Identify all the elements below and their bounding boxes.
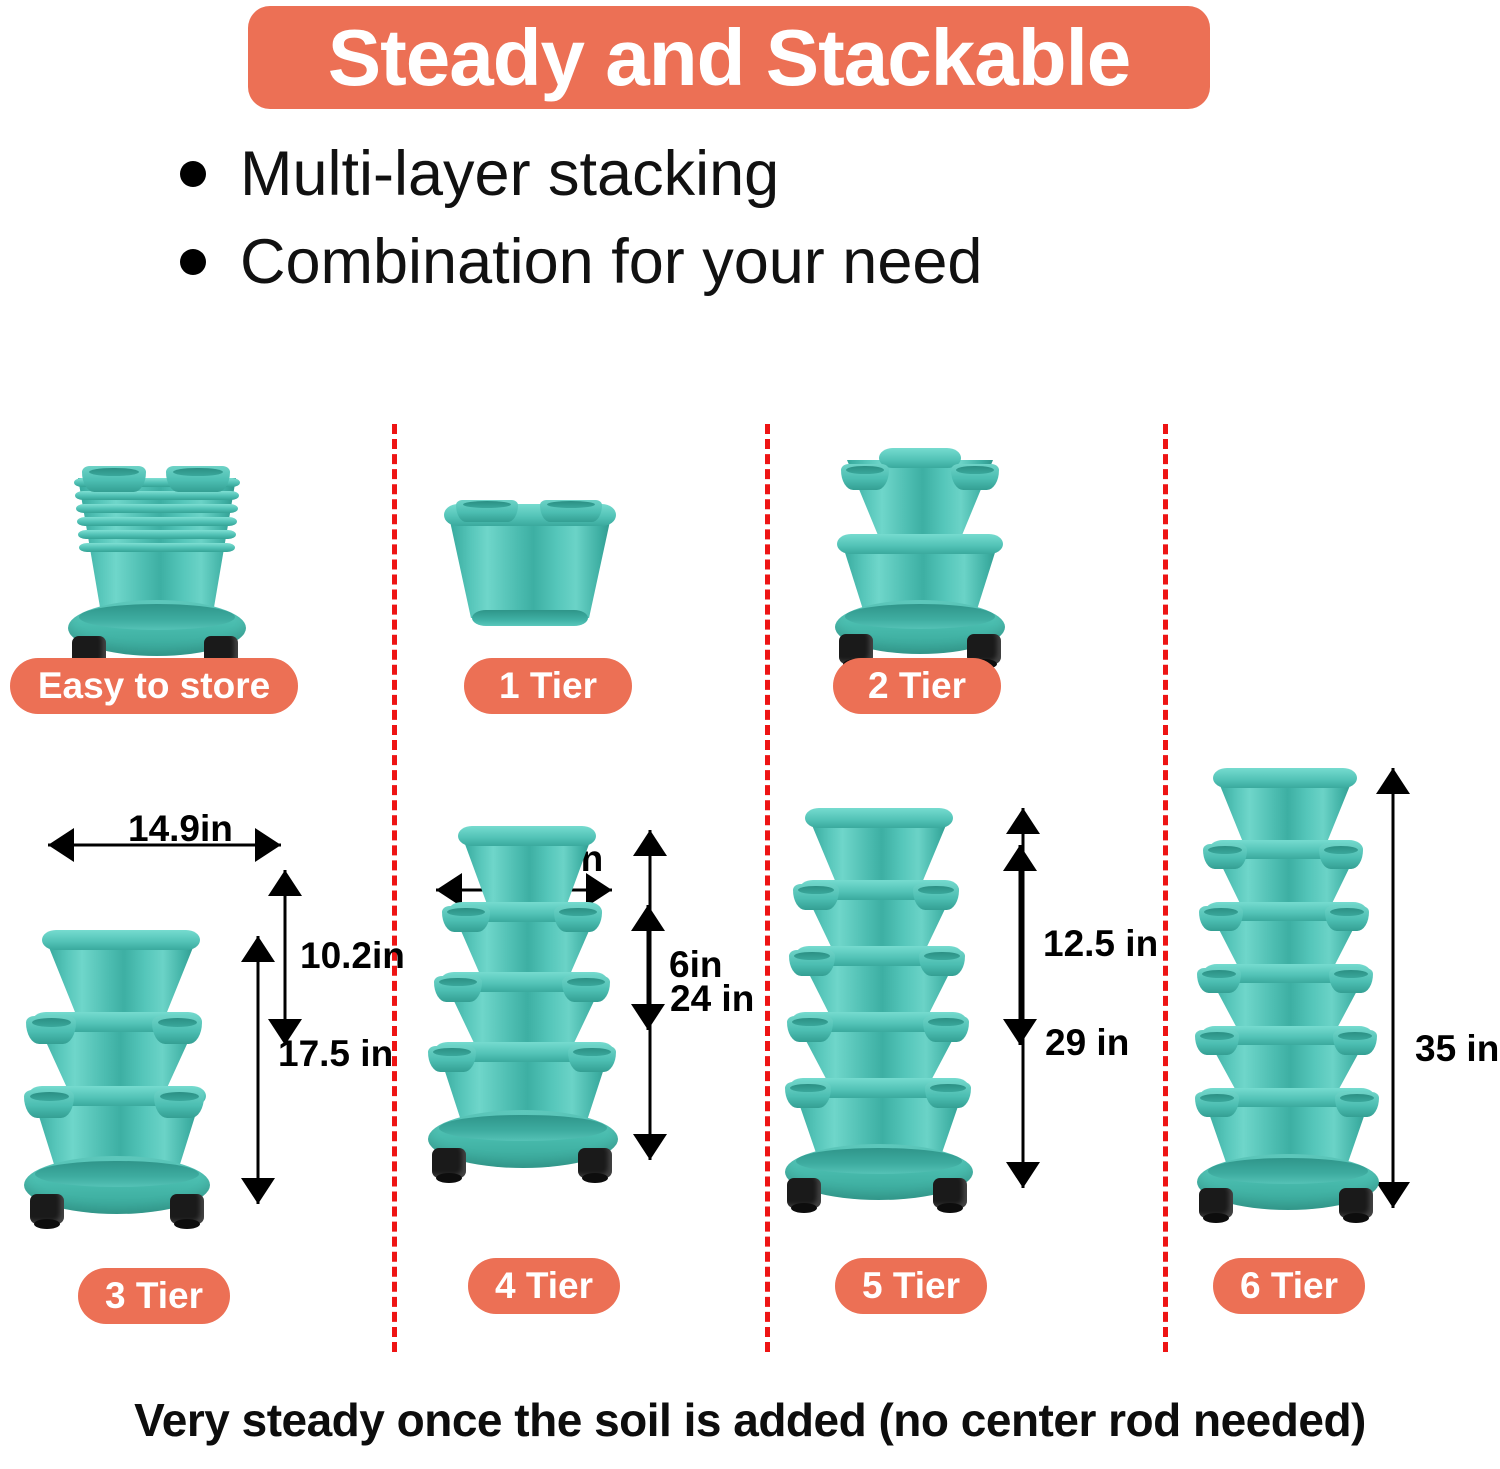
product-image-four-tier — [420, 822, 625, 1162]
pot-pocket — [925, 1082, 971, 1108]
arrow-shaft — [1392, 768, 1395, 1208]
base-rim — [796, 1148, 961, 1174]
pocket-mouth — [160, 1092, 199, 1101]
arrow-shaft — [48, 844, 281, 847]
list-item: Combination for your need — [180, 218, 1180, 306]
panel-label-four-tier: 4 Tier — [468, 1258, 620, 1314]
pocket-mouth — [1334, 970, 1368, 978]
pot-tier — [46, 940, 196, 1022]
pot-pocket — [1319, 844, 1363, 869]
pocket-mouth — [846, 466, 883, 474]
pocket-mouth — [32, 1018, 71, 1027]
panel-label-easy-to-store: Easy to store — [10, 658, 298, 714]
caster-wheel-icon — [30, 1194, 64, 1224]
pocket-mouth — [1340, 1094, 1374, 1102]
width-dimension-label: 14.9in — [128, 810, 233, 847]
bullet-text: Combination for your need — [240, 231, 982, 294]
list-item: Multi-layer stacking — [180, 130, 1180, 218]
panel-label-three-tier: 3 Tier — [78, 1268, 230, 1324]
height-dimension-label: 24 in — [670, 980, 754, 1017]
bullet-dot-icon — [180, 161, 206, 187]
pot-pocket — [568, 1046, 616, 1072]
pocket-mouth — [1338, 1032, 1372, 1040]
arrow-shaft — [257, 936, 260, 1204]
pocket-mouth — [928, 1018, 964, 1026]
footer-caption: Very steady once the soil is added (no c… — [0, 1393, 1500, 1447]
panel-easy-to-store: 14.9in 10.2in Easy t — [0, 400, 392, 730]
nested-rim-line — [79, 543, 235, 552]
pocket-mouth — [918, 886, 954, 894]
pot-pocket — [82, 466, 146, 492]
pocket-mouth — [924, 952, 960, 960]
pocket-mouth — [158, 1018, 197, 1027]
pot-pocket — [442, 906, 490, 932]
pocket-mouth — [1208, 846, 1242, 854]
product-image-two-tier — [827, 442, 1012, 667]
pocket-mouth — [930, 1084, 966, 1092]
pot-top-lip — [1213, 768, 1357, 788]
caster-wheel-icon — [1199, 1188, 1233, 1218]
pocket-mouth — [1200, 1094, 1234, 1102]
pot-pocket — [923, 1016, 969, 1042]
nested-rim-line — [75, 491, 239, 500]
height-dimension-label: 35 in — [1415, 1030, 1499, 1067]
panel-label-two-tier: 2 Tier — [833, 658, 1001, 714]
pocket-mouth — [792, 1018, 828, 1026]
pocket-mouth — [559, 908, 596, 916]
caster-wheel-icon — [1339, 1188, 1373, 1218]
base-rim — [1208, 1158, 1368, 1184]
pot-pocket — [919, 950, 965, 976]
arrow-head-bottom-icon — [1006, 1162, 1040, 1188]
pot-pocket — [428, 1046, 476, 1072]
pot-pocket — [554, 906, 602, 932]
bullet-text: Multi-layer stacking — [240, 143, 779, 206]
pocket-mouth — [1204, 908, 1238, 916]
pot-pocket — [785, 1082, 831, 1108]
pot-pocket — [1195, 1030, 1239, 1055]
pocket-mouth — [1330, 908, 1364, 916]
product-image-five-tier — [779, 806, 984, 1201]
nested-rim-line — [77, 517, 237, 526]
pot-pocket — [562, 976, 610, 1002]
pot-pocket — [789, 950, 835, 976]
pocket-mouth — [1324, 846, 1358, 854]
pot-pocket — [1195, 1092, 1239, 1117]
pot-pocket — [1325, 906, 1369, 931]
arrow-head-bottom-icon — [241, 1178, 275, 1204]
pot-pocket — [1197, 968, 1241, 993]
panel-label-one-tier: 1 Tier — [464, 658, 632, 714]
pot-pocket — [152, 1016, 202, 1044]
pot-pocket — [1335, 1092, 1379, 1117]
pot-tier — [448, 512, 612, 618]
pot-top-lip — [805, 808, 953, 828]
pocket-mouth — [798, 886, 834, 894]
caster-wheel-icon — [432, 1148, 466, 1178]
pot-pocket — [793, 884, 839, 910]
pocket-mouth — [573, 1048, 610, 1056]
base-rim — [35, 1161, 199, 1188]
arrow-shaft — [1022, 808, 1025, 1188]
pocket-mouth — [89, 468, 139, 476]
product-image-three-tier — [18, 928, 218, 1208]
pot-pocket — [951, 464, 999, 490]
pocket-mouth — [547, 501, 595, 508]
nested-rim-line — [78, 530, 236, 539]
height-dimension-label: 17.5 in — [278, 1035, 393, 1072]
feature-bullet-list: Multi-layer stacking Combination for you… — [180, 130, 1180, 306]
pot-pocket — [787, 1016, 833, 1042]
product-image-easy-to-store — [54, 464, 259, 664]
pot-foot — [472, 610, 588, 626]
panel-one-tier: 13.6 in 6in 1 Tier — [392, 400, 765, 730]
arrow-shaft — [649, 830, 652, 1160]
pocket-mouth — [447, 908, 484, 916]
pot-pocket — [1329, 968, 1373, 993]
panel-six-tier: 35 in — [1163, 750, 1500, 1330]
panel-four-tier: 24 in — [392, 790, 765, 1330]
base-rim — [79, 604, 236, 630]
nested-rim-line — [76, 504, 238, 513]
pot-pocket — [26, 1016, 76, 1044]
pocket-mouth — [567, 978, 604, 986]
arrow-head-top-icon — [268, 870, 302, 896]
pot-tier-lip — [837, 534, 1003, 554]
caster-wheel-icon — [578, 1148, 612, 1178]
base-rim — [845, 604, 995, 629]
panel-three-tier: 17.5 in 3 Tier — [0, 900, 392, 1330]
panel-five-tier: 29 in — [765, 780, 1163, 1330]
title-banner: Steady and Stackable — [248, 6, 1210, 109]
pocket-mouth — [30, 1092, 69, 1101]
product-image-six-tier — [1191, 766, 1386, 1221]
pocket-mouth — [439, 978, 476, 986]
pocket-mouth — [173, 468, 223, 476]
pot-pocket — [154, 1090, 204, 1118]
caster-wheel-icon — [933, 1178, 967, 1208]
pot-top-lip — [879, 448, 961, 468]
caster-wheel-icon — [170, 1194, 204, 1224]
pocket-mouth — [1200, 1032, 1234, 1040]
caster-wheel-icon — [787, 1178, 821, 1208]
page-title: Steady and Stackable — [328, 18, 1131, 98]
product-image-one-tier — [440, 500, 620, 630]
pot-pocket — [1203, 844, 1247, 869]
arrow-head-right-icon — [255, 828, 281, 862]
pot-pocket — [1199, 906, 1243, 931]
arrow-head-top-icon — [633, 830, 667, 856]
pot-pocket — [166, 466, 230, 492]
pocket-mouth — [1202, 970, 1236, 978]
panel-label-six-tier: 6 Tier — [1213, 1258, 1365, 1314]
pot-pocket — [434, 976, 482, 1002]
arrow-head-left-icon — [48, 828, 74, 862]
arrow-head-top-icon — [1006, 808, 1040, 834]
base-rim — [439, 1115, 606, 1142]
panel-label-five-tier: 5 Tier — [835, 1258, 987, 1314]
pot-pocket — [456, 500, 518, 522]
pot-top-lip — [458, 826, 596, 846]
height-dimension-label: 29 in — [1045, 1024, 1129, 1061]
panel-two-tier: 12.5 in 2 Tier — [765, 400, 1163, 730]
pocket-mouth — [790, 1084, 826, 1092]
arrow-head-bottom-icon — [633, 1134, 667, 1160]
arrow-head-top-icon — [241, 936, 275, 962]
bullet-dot-icon — [180, 249, 206, 275]
pot-pocket — [1333, 1030, 1377, 1055]
pot-pocket — [24, 1090, 74, 1118]
pot-pocket — [913, 884, 959, 910]
pot-pocket — [841, 464, 889, 490]
pot-pocket — [540, 500, 602, 522]
pocket-mouth — [433, 1048, 470, 1056]
pocket-mouth — [956, 466, 993, 474]
pot-top-lip — [42, 930, 200, 950]
pocket-mouth — [794, 952, 830, 960]
pocket-mouth — [463, 501, 511, 508]
